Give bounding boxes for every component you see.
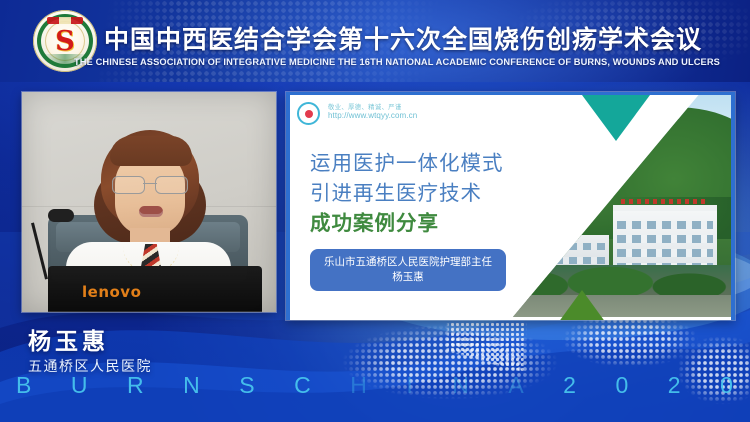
speaker-video-feed[interactable]: lenovo bbox=[22, 92, 276, 312]
hospital-url[interactable]: http://www.wtqyy.com.cn bbox=[328, 111, 417, 120]
speaker-name: 杨玉惠 bbox=[28, 322, 109, 356]
hospital-logo-icon bbox=[297, 102, 320, 125]
presenter-role: 乐山市五通桥区人民医院护理部主任 bbox=[320, 255, 496, 270]
hospital-roof-sign bbox=[621, 199, 707, 204]
slide-right-accent-bar bbox=[731, 92, 735, 320]
slide-presenter-badge: 乐山市五通桥区人民医院护理部主任 杨玉惠 bbox=[310, 249, 506, 291]
slide-left-accent-bar bbox=[286, 92, 290, 320]
slide-title-line-3: 成功案例分享 bbox=[310, 206, 439, 236]
presentation-slide[interactable]: 敬业、厚德、精诚、严谨 http://www.wtqyy.com.cn 运用医护… bbox=[286, 92, 735, 320]
conference-title-english: THE CHINESE ASSOCIATION OF INTEGRATIVE M… bbox=[0, 57, 750, 67]
green-triangle-decoration bbox=[550, 290, 614, 320]
photo-river bbox=[499, 295, 731, 317]
slide-title-line-2: 引进再生医疗技术 bbox=[310, 176, 482, 206]
speaker-organization: 五通桥区人民医院 bbox=[28, 356, 152, 376]
teal-triangle-decoration bbox=[582, 95, 650, 141]
conference-broadcast-screen: S 中国中西医结合学会第十六次全国烧伤创疡学术会议 THE CHINESE AS… bbox=[0, 0, 750, 422]
slide-top-accent-bar bbox=[286, 92, 735, 95]
presenter-name: 杨玉惠 bbox=[320, 270, 496, 285]
conference-header-banner: S 中国中西医结合学会第十六次全国烧伤创疡学术会议 THE CHINESE AS… bbox=[0, 0, 750, 82]
building-window-row bbox=[617, 235, 713, 243]
building-window-row bbox=[617, 221, 713, 229]
hospital-motto: 敬业、厚德、精诚、严谨 bbox=[328, 102, 402, 111]
building-window-row bbox=[555, 257, 605, 264]
video-vignette bbox=[22, 92, 276, 312]
building-window-row bbox=[617, 249, 713, 257]
conference-title-chinese: 中国中西医结合学会第十六次全国烧伤创疡学术会议 bbox=[0, 20, 750, 56]
slide-title-line-1: 运用医护一体化模式 bbox=[310, 146, 504, 176]
